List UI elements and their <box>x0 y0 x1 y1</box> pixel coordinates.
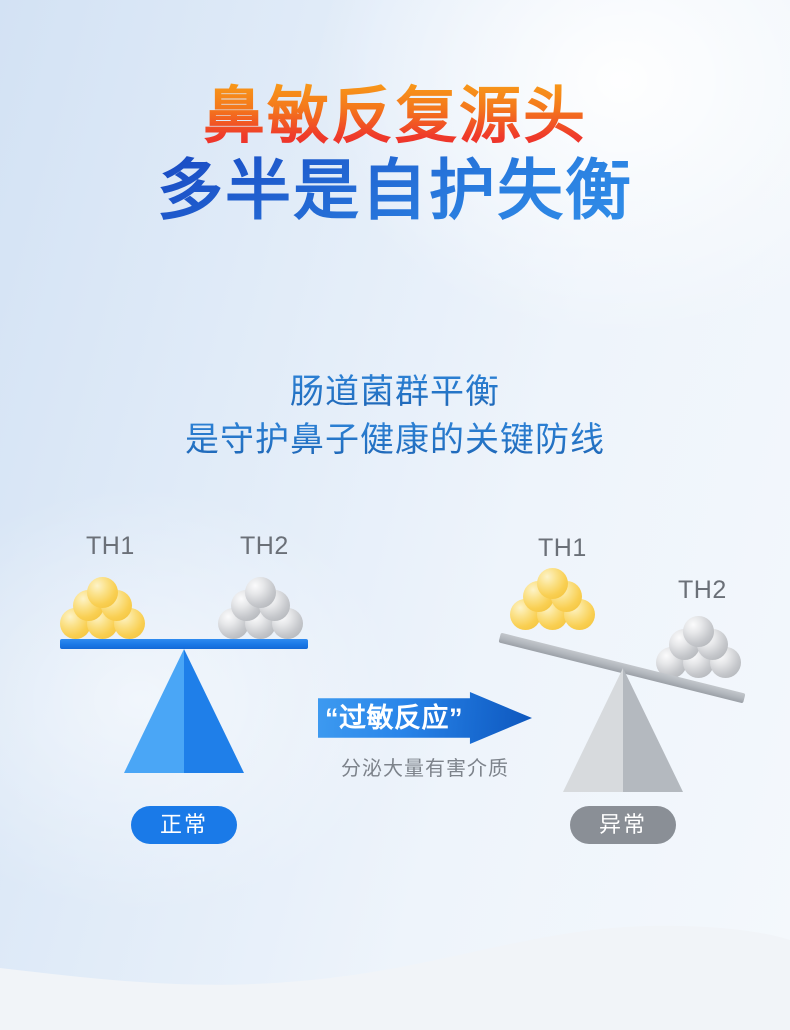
subtitle-line-2: 是守护鼻子健康的关键防线 <box>0 416 790 464</box>
allergy-arrow: “过敏反应” <box>318 692 532 744</box>
fulcrum-face-right <box>184 649 244 773</box>
left-scale-th2-label: TH2 <box>240 532 289 561</box>
headline-line-1: 鼻敏反复源头 <box>0 82 790 151</box>
headline-block: 鼻敏反复源头 多半是自护失衡 <box>0 82 790 229</box>
subtitle-block: 肠道菌群平衡 是守护鼻子健康的关键防线 <box>0 368 790 465</box>
allergy-arrow-block: “过敏反应” 分泌大量有害介质 <box>318 692 532 781</box>
allergy-arrow-label: “过敏反应” <box>318 692 470 744</box>
right-scale-th1-label: TH1 <box>538 534 587 563</box>
ball-gray <box>245 577 276 608</box>
right-scale-th1-balls <box>510 568 596 630</box>
left-scale-th1-label: TH1 <box>86 532 135 561</box>
balance-scale-normal: TH1 TH2 <box>48 520 348 860</box>
left-scale-status-badge: 正常 <box>131 806 237 844</box>
left-scale-th1-balls <box>60 577 146 639</box>
ball-yellow <box>87 577 118 608</box>
bottom-wave-decoration <box>0 920 790 1030</box>
left-scale-fulcrum <box>124 649 244 773</box>
headline-line-2: 多半是自护失衡 <box>0 153 790 229</box>
left-scale-th2-balls <box>218 577 304 639</box>
left-scale-beam <box>60 639 308 649</box>
poster-canvas: 鼻敏反复源头 多半是自护失衡 肠道菌群平衡 是守护鼻子健康的关键防线 TH1 T… <box>0 0 790 1030</box>
right-scale-status-badge: 异常 <box>570 806 676 844</box>
right-scale-fulcrum <box>563 668 683 792</box>
ball-yellow <box>537 568 568 599</box>
right-scale-th2-label: TH2 <box>678 576 727 605</box>
ball-gray <box>683 616 714 647</box>
fulcrum-face-left <box>124 649 184 773</box>
fulcrum-face-right <box>623 668 683 792</box>
fulcrum-face-left <box>563 668 623 792</box>
subtitle-line-1: 肠道菌群平衡 <box>0 368 790 416</box>
balance-scale-abnormal: TH1 TH2 <box>478 520 778 860</box>
balance-diagram: TH1 TH2 <box>0 520 790 860</box>
allergy-arrow-caption: 分泌大量有害介质 <box>318 752 532 781</box>
